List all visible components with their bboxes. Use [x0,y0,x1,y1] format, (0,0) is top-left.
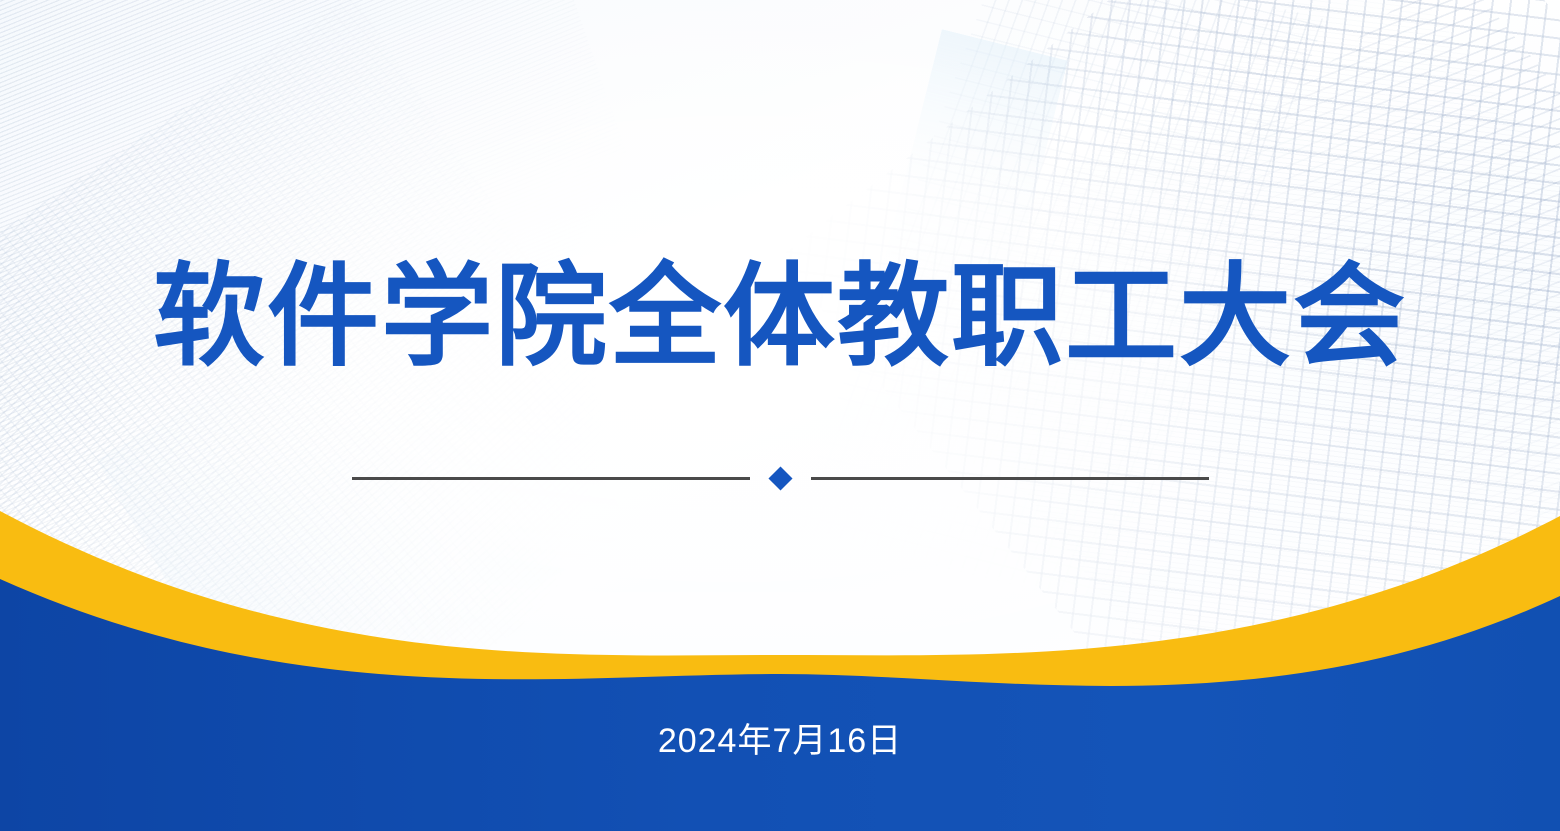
divider-line-left [352,477,750,480]
divider-line-right [811,477,1209,480]
slide-date: 2024年7月16日 [0,713,1560,762]
title-divider [0,466,1560,490]
slide-title: 软件学院全体教职工大会 [0,258,1560,377]
title-block: 软件学院全体教职工大会 [0,258,1560,377]
presentation-title-slide: 软件学院全体教职工大会 2024年7月16日 [0,0,1560,831]
date-block: 2024年7月16日 [0,713,1560,762]
diamond-icon [768,466,792,490]
